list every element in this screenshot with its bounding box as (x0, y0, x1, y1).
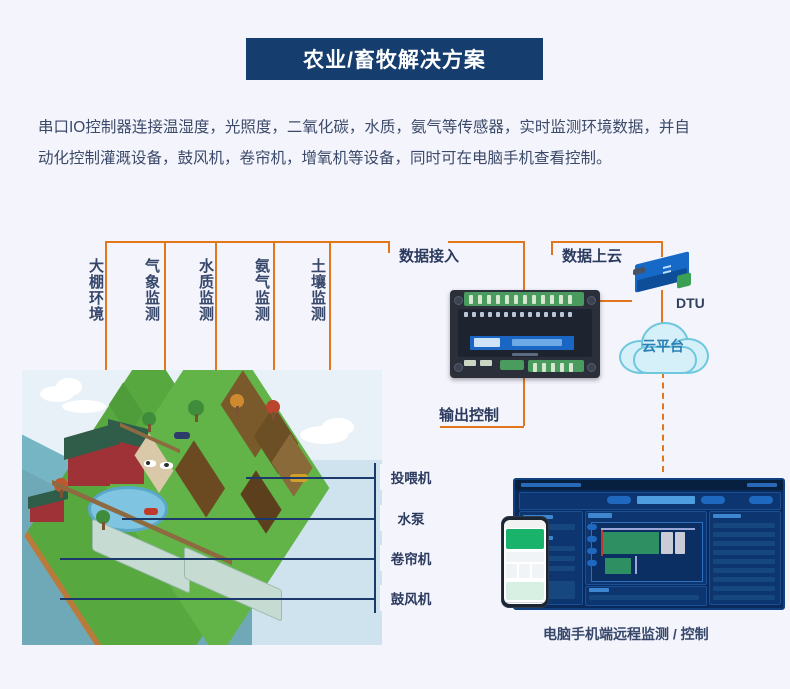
pc-dashboard-monitor (513, 478, 785, 610)
output-control-drop (523, 378, 525, 426)
actuator-line-feeder (246, 477, 374, 479)
scada-tank-2 (661, 532, 673, 554)
cloud-shape-3 (62, 400, 106, 413)
tree-2 (188, 400, 204, 422)
solution-diagram-page: 农业/畜牧解决方案 串口IO控制器连接温湿度，光照度，二氧化碳，水质，氨气等传感… (0, 0, 790, 689)
sensor-label-ammonia: 氨气监测 (252, 258, 271, 340)
scada-tank-4 (605, 558, 631, 574)
phone-stat-3 (532, 564, 544, 578)
label-data-to-cloud: 数据上云 (562, 245, 622, 266)
dtu-label: DTU (676, 295, 705, 311)
scada-tank-3 (675, 532, 685, 554)
tree-trunk (60, 490, 63, 498)
controller-terminal-mid (500, 360, 524, 370)
controller-screw-bl (454, 363, 463, 372)
dashboard-tab-right[interactable] (701, 496, 725, 504)
tree-trunk (102, 522, 105, 530)
cow-2 (160, 462, 173, 469)
phone-status-bar (504, 520, 546, 528)
tree-trunk (148, 424, 151, 432)
cloud-shape-5 (322, 418, 354, 436)
cloud-shape-2 (56, 378, 82, 396)
dtu-connector (677, 272, 691, 288)
sensor-label-greenhouse: 大棚环境 (86, 258, 105, 358)
intro-line-1: 串口IO控制器连接温湿度，光照度，二氧化碳，水质，氨气等传感器，实时监测环境数据… (38, 112, 750, 143)
dashboard-tab-left[interactable] (607, 496, 631, 504)
controller-terminal-top (464, 292, 584, 306)
cloud-rail-left-tick (551, 241, 553, 255)
controller-screw-tr (587, 296, 596, 305)
controller-screw-br (587, 363, 596, 372)
sensor-label-soil: 土壤监测 (308, 258, 327, 340)
actuator-label-feeder: 投喂机 (380, 464, 442, 490)
actuator-label-roller-shutter: 卷帘机 (380, 545, 442, 571)
tree-1 (142, 412, 156, 432)
monitor-caption: 电脑手机端远程监测 / 控制 (543, 624, 709, 644)
farm-illustration (22, 370, 382, 645)
actuator-line-shutter (60, 558, 374, 560)
tree-trunk (195, 414, 198, 422)
tree-trunk (272, 412, 275, 420)
data-access-tick (388, 241, 390, 253)
scada-button-2[interactable] (587, 536, 597, 542)
tree-6 (96, 510, 110, 530)
mobile-phone-device (501, 516, 549, 608)
phone-screen (504, 520, 546, 604)
controller-brand-logo (474, 338, 500, 347)
phone-app-header (506, 529, 544, 549)
label-output-control: 输出控制 (439, 404, 499, 425)
data-access-rail-right (448, 241, 523, 243)
controller-brand-band (470, 336, 574, 350)
intro-paragraph: 串口IO控制器连接温湿度，光照度，二氧化碳，水质，氨气等传感器，实时监测环境数据… (38, 112, 750, 174)
controller-terminal-bottom (528, 360, 584, 372)
page-title-banner: 农业/畜牧解决方案 (246, 38, 543, 80)
controller-faceplate (458, 309, 592, 357)
scada-button-1[interactable] (587, 524, 597, 530)
scada-tank-1 (603, 532, 659, 554)
controller-switch-1 (464, 360, 476, 366)
actuator-label-pump: 水泵 (380, 505, 442, 531)
label-data-access: 数据接入 (399, 245, 459, 266)
scada-pipe-top (601, 528, 695, 530)
cloud-platform-label: 云平台 (619, 336, 707, 356)
actuator-line-pump (122, 518, 374, 520)
scada-pipe-red (601, 530, 603, 556)
phone-card-1 (506, 552, 544, 562)
controller-to-dtu-line (600, 300, 632, 302)
phone-stat-2 (519, 564, 530, 578)
actuator-bus-line (374, 463, 376, 613)
scada-button-3[interactable] (587, 548, 597, 554)
tree-trunk (236, 406, 239, 414)
actuator-label-blower: 鼓风机 (380, 585, 442, 611)
io-controller-device (450, 290, 600, 378)
scada-button-4[interactable] (587, 560, 597, 566)
dashboard-user-button[interactable] (749, 496, 773, 504)
phone-trend-chart (506, 582, 544, 600)
car (174, 432, 190, 439)
tree-4 (266, 400, 280, 420)
actuator-line-blower (60, 598, 374, 600)
dtu-device (631, 252, 695, 296)
controller-sub-text (512, 353, 538, 356)
cow-1 (144, 460, 156, 467)
controller-model-text (512, 339, 562, 346)
sensor-label-water-quality: 水质监测 (196, 258, 215, 340)
sensor-label-weather: 气象监测 (142, 258, 161, 340)
controller-screw-tl (454, 296, 463, 305)
controller-switch-2 (480, 360, 492, 366)
dashboard-title-text (637, 496, 695, 504)
tree-3 (230, 394, 244, 414)
cloud-rail-top (551, 241, 661, 243)
controller-feed-line (523, 241, 525, 291)
output-control-rail (440, 426, 524, 428)
scada-pipe-vert (635, 556, 637, 574)
sensor-rail-top (105, 241, 388, 243)
cloud-to-monitor-dashed-line (662, 372, 664, 472)
phone-stat-1 (506, 564, 517, 578)
tractor (144, 508, 158, 515)
intro-line-2: 动化控制灌溉设备，鼓风机，卷帘机，增氧机等设备，同时可在电脑手机查看控制。 (38, 143, 750, 174)
page-title: 农业/畜牧解决方案 (303, 44, 486, 74)
